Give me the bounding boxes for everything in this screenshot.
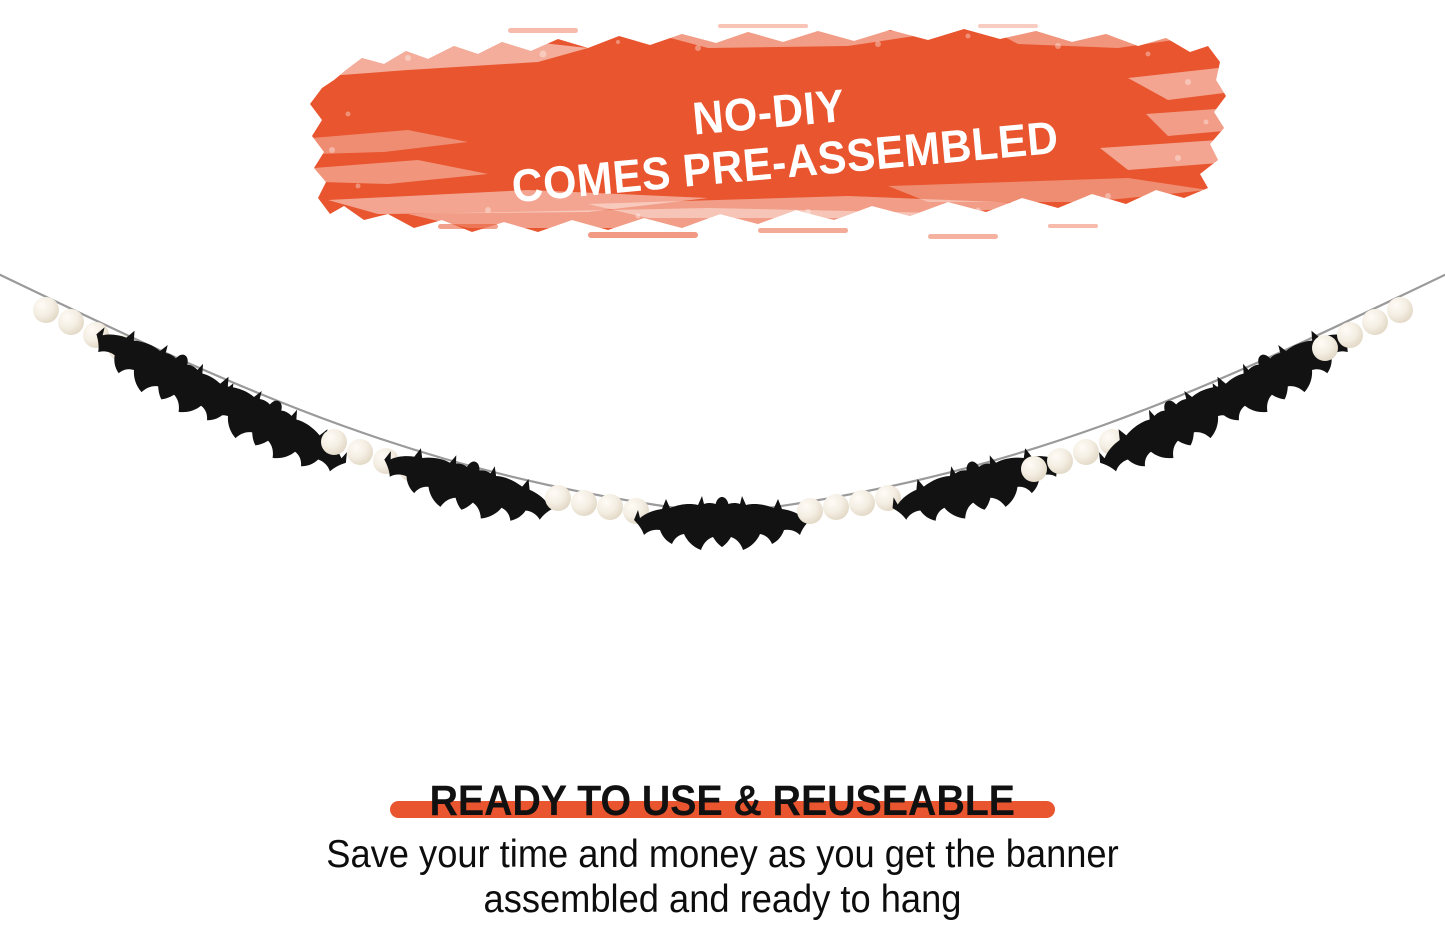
headline: READY TO USE & REUSEABLE	[430, 778, 1015, 824]
garland-segment-left	[33, 297, 649, 537]
brush-stroke-shape	[288, 18, 1248, 258]
bat	[376, 437, 560, 537]
garland-segment-right	[886, 297, 1413, 537]
bat	[1183, 313, 1364, 443]
subcopy-line-2: assembled and ready to hang	[51, 878, 1395, 922]
no-diy-banner: NO-DIY COMES PRE-ASSEMBLED	[288, 18, 1248, 258]
bat	[634, 496, 810, 550]
bat-bead-garland	[0, 262, 1445, 622]
bead-cluster	[1312, 297, 1413, 361]
bottom-copy-block: READY TO USE & REUSEABLE Save your time …	[0, 778, 1445, 948]
bead-cluster	[545, 485, 649, 524]
bead-cluster	[797, 485, 901, 524]
garland-illustration	[0, 262, 1445, 622]
subcopy: Save your time and money as you get the …	[0, 833, 1445, 921]
product-feature-graphic: NO-DIY COMES PRE-ASSEMBLED	[0, 0, 1445, 948]
subcopy-line-1: Save your time and money as you get the …	[51, 833, 1395, 877]
garland-segment-center	[634, 485, 901, 550]
bat	[886, 437, 1070, 537]
headline-group: READY TO USE & REUSEABLE	[390, 778, 1054, 824]
